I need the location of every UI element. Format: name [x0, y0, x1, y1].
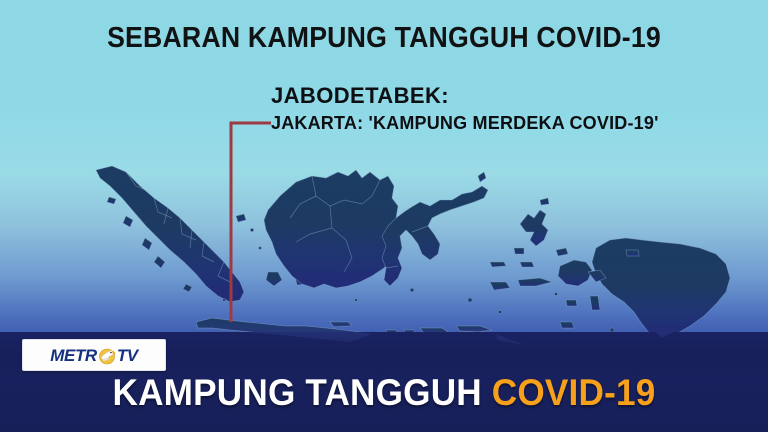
island-sulawesi [382, 186, 488, 286]
island-waigeo [556, 248, 568, 256]
island-seram [518, 278, 552, 286]
island-obi [520, 262, 534, 267]
banner-title-accent: COVID-19 [492, 372, 656, 413]
island-sangihe [478, 172, 486, 182]
metro-tv-logo: METR TV [22, 339, 166, 371]
island-nias [123, 216, 133, 227]
island-madura [330, 322, 352, 327]
logo-text-left: METR [50, 347, 97, 364]
callout-detail-text: JAKARTA: 'KAMPUNG MERDEKA COVID-19' [271, 113, 671, 134]
island-halmahera [520, 210, 548, 246]
island-sumatra [96, 166, 244, 302]
island-kai [566, 300, 577, 306]
page-title: SEBARAN KAMPUNG TANGGUH COVID-19 [31, 22, 738, 55]
island-papua [592, 238, 730, 338]
island-biak [626, 250, 639, 256]
island-morotai [540, 198, 549, 205]
callout-block: JABODETABEK: JAKARTA: 'KAMPUNG MERDEKA C… [271, 84, 691, 134]
logo-text-right: TV [117, 347, 138, 364]
island-mentawai-1 [142, 238, 152, 250]
callout-leader-line-icon [225, 120, 285, 330]
island-simeulue [107, 197, 116, 204]
island-tanimbar [560, 322, 574, 328]
island-shapes [96, 166, 730, 354]
callout-region-label: JABODETABEK: [271, 84, 691, 108]
broadcast-graphic: SEBARAN KAMPUNG TANGGUH COVID-19 JABODET… [0, 0, 768, 432]
island-buru [490, 282, 510, 290]
island-bacan [514, 248, 524, 254]
lower-third-banner: METR TV KAMPUNG TANGGUH COVID-19 [0, 332, 768, 432]
island-mentawai-2 [154, 256, 165, 268]
eagle-head-icon [97, 346, 117, 366]
island-enggano [183, 284, 192, 292]
banner-title: KAMPUNG TANGGUH COVID-19 [19, 372, 749, 414]
island-aru [590, 296, 600, 310]
island-papua-birdhead [558, 260, 592, 286]
island-sula [490, 262, 506, 267]
banner-title-main: KAMPUNG TANGGUH [113, 372, 482, 413]
